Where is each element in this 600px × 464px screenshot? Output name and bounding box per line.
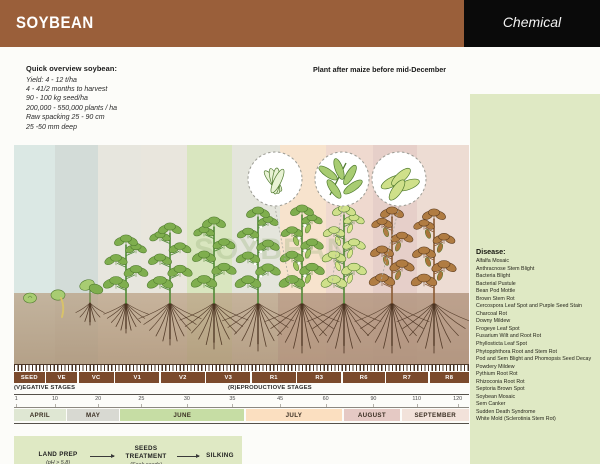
divider-line [14,423,469,424]
disease-panel-title: Disease: [476,247,595,256]
overview-line: 90 - 100 kg seed/ha [26,94,226,103]
timeline-day: 45 [277,396,283,402]
stage-cell-vc[interactable]: VC [79,372,114,383]
overview-line: 4 - 41/2 months to harvest [26,85,226,94]
disease-list-item: Pythium Root Rot [476,371,595,379]
growth-stage-bar: SEEDVEVCV1V2V3R1R3R6R7R8 [14,372,469,383]
disease-list-item: Anthracnose Stem Blight [476,266,595,274]
growth-stage-illustration: SOYBEAN [14,145,469,367]
month-cell-april[interactable]: APRIL [14,409,66,421]
stage-cell-r3[interactable]: R3 [297,372,341,383]
flow-arrow-1 [90,456,114,457]
overview-line: 25 -50 mm deep [26,123,226,132]
disease-list-item: Septoria Brown Spot [476,386,595,394]
disease-list-item: Alfalfa Mosaic [476,258,595,266]
timeline-day: 25 [138,396,144,402]
disease-list-item: Fusarium Wilt and Root Rot [476,333,595,341]
disease-list-item: Sem Canker [476,401,595,409]
soybean-plant-drawings [14,145,469,367]
stage-tick-ruler [14,364,469,371]
page-header: SOYBEAN Chemical [0,0,600,47]
overview-line: Raw spacking 25 - 90 cm [26,113,226,122]
stage-cell-r1[interactable]: R1 [252,372,296,383]
disease-list-item: Rhizoconia Root Rot [476,379,595,387]
disease-list: Alfalfa MosaicAnthracnose Stem BlightBac… [476,258,595,424]
disease-list-item: Brown Stem Rot [476,296,595,304]
timeline-day: 10 [52,396,58,402]
timeline-day: 120 [453,396,462,402]
disease-list-item: Bacteria Blight [476,273,595,281]
quick-overview-block: Quick overview soybean: Yield: 4 - 12 t/… [26,64,226,132]
divider-line [14,407,469,408]
stage-cell-v3[interactable]: V3 [206,372,250,383]
timeline-day: 30 [184,396,190,402]
timeline-day: 35 [229,396,235,402]
overview-line: Yield: 4 - 12 t/ha [26,76,226,85]
month-cell-july[interactable]: JULY [246,409,343,421]
page-body: Quick overview soybean: Yield: 4 - 12 t/… [0,47,600,464]
disease-list-item: Charcoal Rot [476,311,595,319]
timeline-day: 90 [370,396,376,402]
flow-node-label: SILKING [200,452,240,460]
flow-node-label: SEEDS TREATMENT [118,445,174,461]
flow-node-seeds-treatment: SEEDS TREATMENT (Soak seeds) [118,445,174,464]
month-cell-august[interactable]: AUGUST [344,409,400,421]
disease-list-item: Bacterial Pustule [476,281,595,289]
stage-cell-seed[interactable]: SEED [14,372,45,383]
disease-panel-top-fill [470,94,600,145]
flow-node-silking: SILKING [200,452,240,460]
flow-arrow-2 [177,456,199,457]
month-cell-june[interactable]: JUNE [120,409,244,421]
stage-cell-r7[interactable]: R7 [386,372,428,383]
flow-node-land-prep: LAND PREP (pH > 5.8) [30,451,86,464]
disease-list-item: Soybean Mosaic [476,394,595,402]
disease-list-item: Pod and Sem Blight and Phomopsis Seed De… [476,356,595,364]
month-bar: APRILMAYJUNEJULYAUGUSTSEPTEMBER [14,409,469,421]
timeline-day: 1 [15,396,18,402]
disease-list-item: Powdery Mildew [476,364,595,372]
operations-flow-diagram: LAND PREP (pH > 5.8) SEEDS TREATMENT (So… [14,436,242,464]
disease-list-item: Phyllosticta Leaf Spot [476,341,595,349]
section-label-chemical: Chemical [464,14,600,30]
stage-cell-r6[interactable]: R6 [343,372,385,383]
reproductive-stages-label: (R)EPRODUCTIOVE STAGES [228,385,312,391]
disease-list-item: Bean Pod Mottle [476,288,595,296]
soybean-infographic-page: SOYBEAN Chemical Quick overview soybean:… [0,0,600,464]
stage-cell-v2[interactable]: V2 [161,372,205,383]
disease-list-item: Phytopphthora Root and Stem Rot [476,349,595,357]
stage-cell-r8[interactable]: R8 [430,372,470,383]
month-cell-may[interactable]: MAY [67,409,119,421]
disease-panel: Disease: Alfalfa MosaicAnthracnose Stem … [470,145,600,464]
divider-line [14,394,469,395]
disease-list-item: White Mold (Sclerotinia Stem Rot) [476,416,595,424]
stage-cell-ve[interactable]: VE [46,372,77,383]
month-cell-september[interactable]: SEPTEMBER [402,409,469,421]
timeline-day: 110 [412,396,421,402]
flow-node-sublabel: (pH > 5.8) [30,460,86,464]
disease-list-item: Frogeye Leaf Spot [476,326,595,334]
vegetative-stages-label: (V)EGATIVE STAGES [14,385,75,391]
overview-title: Quick overview soybean: [26,64,226,73]
timeline-day: 60 [323,396,329,402]
flow-node-label: LAND PREP [30,451,86,459]
planting-note: Plant after maize before mid-December [313,65,446,74]
disease-list-item: Cercospora Leaf Spot and Purple Seed Sta… [476,303,595,311]
timeline-day: 20 [95,396,101,402]
disease-list-item: Sudden Death Syndrome [476,409,595,417]
disease-list-item: Downy Mildew [476,318,595,326]
stage-cell-v1[interactable]: V1 [115,372,159,383]
timeline-day-numbers: 11020253035456090110120 [14,396,469,407]
page-title: SOYBEAN [16,13,94,33]
overview-line: 200,000 - 550,000 plants / ha [26,104,226,113]
